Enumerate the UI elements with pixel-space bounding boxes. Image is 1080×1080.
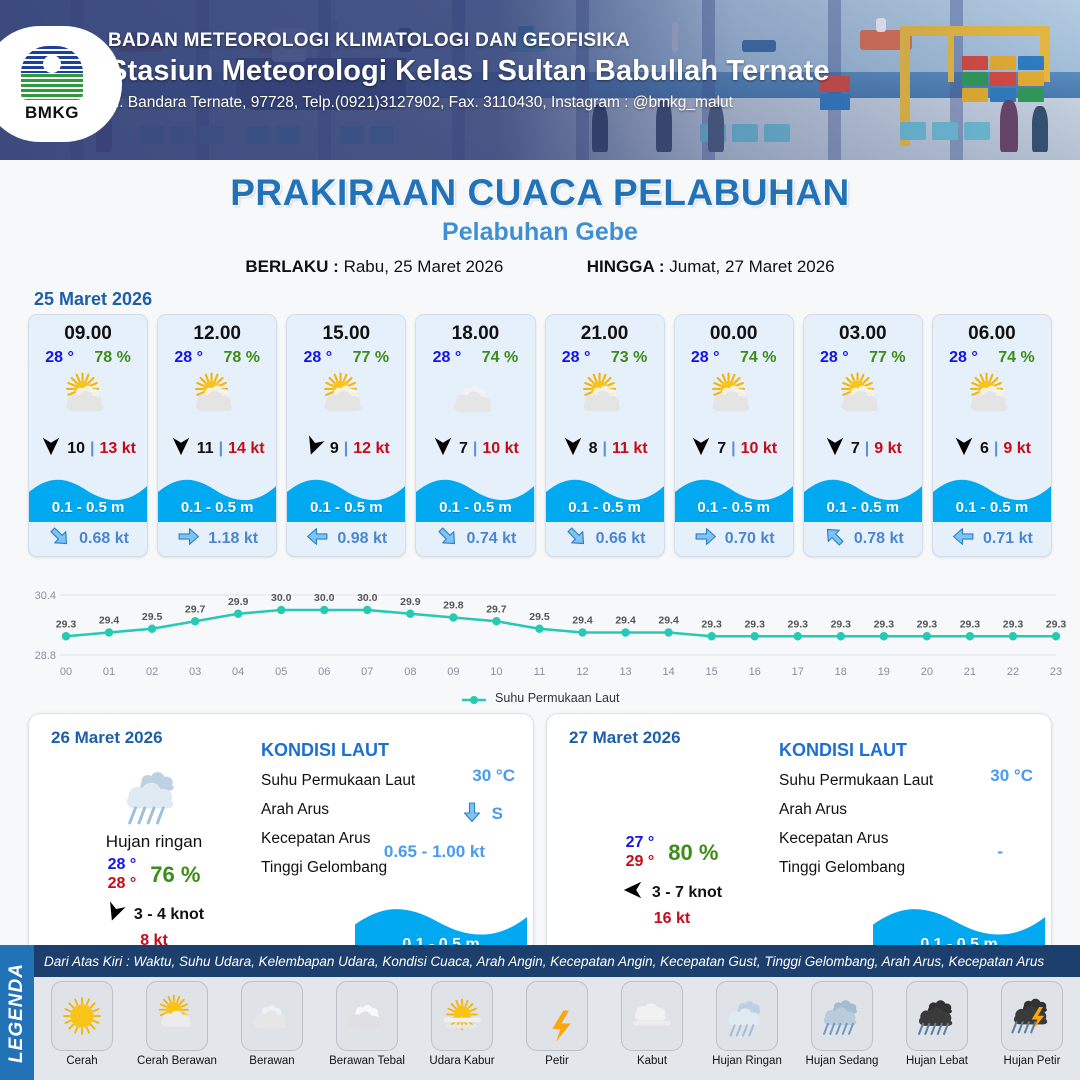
- forecast-card[interactable]: 21.0028 °73 %8|11 kt0.1 - 0.5 m0.66 kt: [545, 314, 665, 557]
- card-humidity: 73 %: [611, 349, 647, 367]
- panel-weather-summary: 27 °29 °80 %3 - 7 knot16 kt: [565, 758, 779, 928]
- card-time: 21.00: [546, 315, 664, 345]
- card-wave-height: 0.1 - 0.5 m: [158, 499, 276, 516]
- panel-temp-max: 29 °: [626, 853, 655, 871]
- current-direction-arrow-icon: [822, 524, 847, 554]
- card-wind-speed: 10: [67, 440, 85, 458]
- legend-sunny-cloudy-icon: [146, 981, 208, 1051]
- panel-temp-row: 27 °29 °80 %: [565, 834, 779, 871]
- svg-text:12: 12: [576, 666, 588, 678]
- svg-text:29.3: 29.3: [831, 618, 852, 630]
- page-title: PRAKIRAAN CUACA PELABUHAN: [0, 172, 1080, 214]
- legend-item-label: Berawan: [249, 1055, 294, 1067]
- wind-separator: |: [219, 440, 223, 458]
- card-time: 09.00: [29, 315, 147, 345]
- legend-heavy-rain-icon: [906, 981, 968, 1051]
- card-current-speed: 0.70 kt: [725, 530, 775, 548]
- card-cloudy-icon: [416, 367, 534, 429]
- panel-wind-row: 3 - 7 knot: [565, 879, 779, 906]
- card-wind-row: 6|9 kt: [933, 429, 1051, 464]
- svg-text:00: 00: [60, 666, 72, 678]
- card-wind-speed: 6: [980, 440, 989, 458]
- card-gust: 10 kt: [741, 440, 777, 458]
- sea-row-value: 0.65 - 1.00 kt: [384, 842, 485, 862]
- card-wind-row: 7|10 kt: [416, 429, 534, 464]
- legend-item-label: Petir: [545, 1055, 569, 1067]
- card-current-speed: 0.98 kt: [337, 530, 387, 548]
- current-direction-arrow-icon: [460, 800, 484, 829]
- card-temp-humidity-row: 28 °74 %: [416, 345, 534, 367]
- card-current-speed: 0.74 kt: [467, 530, 517, 548]
- current-direction-arrow-icon: [564, 524, 589, 554]
- svg-text:22: 22: [1007, 666, 1019, 678]
- valid-from-value: Rabu, 25 Maret 2026: [344, 257, 504, 276]
- svg-text:07: 07: [361, 666, 373, 678]
- card-partly-cloudy-icon: [804, 367, 922, 429]
- svg-text:29.3: 29.3: [1003, 618, 1024, 630]
- svg-text:29.3: 29.3: [701, 618, 722, 630]
- card-gust: 14 kt: [228, 440, 264, 458]
- card-wave-height: 0.1 - 0.5 m: [29, 499, 147, 516]
- legend-haze-icon: [431, 981, 493, 1051]
- card-humidity: 78 %: [224, 349, 260, 367]
- legend-fog-icon: [621, 981, 683, 1051]
- card-time: 06.00: [933, 315, 1051, 345]
- card-temp-humidity-row: 28 °74 %: [675, 345, 793, 367]
- card-temp-humidity-row: 28 °73 %: [546, 345, 664, 367]
- card-time: 18.00: [416, 315, 534, 345]
- valid-from-label: BERLAKU :: [245, 257, 339, 276]
- panel-wind-row: 3 - 4 knot: [47, 901, 261, 928]
- legend-item-label: Cerah Berawan: [137, 1055, 217, 1067]
- card-wave-block: 0.1 - 0.5 m: [933, 466, 1051, 522]
- card-temp-humidity-row: 28 °74 %: [933, 345, 1051, 367]
- page-header: BMKG BADAN METEOROLOGI KLIMATOLOGI DAN G…: [0, 0, 1080, 160]
- valid-until-value: Jumat, 27 Maret 2026: [669, 257, 834, 276]
- card-wave-block: 0.1 - 0.5 m: [546, 466, 664, 522]
- legend-item: Berawan Tebal: [321, 979, 413, 1080]
- card-current-row: 1.18 kt: [158, 522, 276, 556]
- card-gust: 11 kt: [612, 440, 648, 458]
- legend-thunderstorm-icon: [1001, 981, 1063, 1051]
- panel-humidity: 76 %: [150, 862, 200, 888]
- card-current-speed: 0.68 kt: [79, 530, 129, 548]
- svg-text:17: 17: [792, 666, 804, 678]
- card-temperature: 28 °: [820, 349, 849, 367]
- card-current-speed: 0.78 kt: [854, 530, 904, 548]
- forecast-card[interactable]: 18.0028 °74 %7|10 kt0.1 - 0.5 m0.74 kt: [415, 314, 535, 557]
- svg-text:29.3: 29.3: [1046, 618, 1066, 630]
- sea-row-value: -: [997, 842, 1003, 862]
- svg-text:28.8: 28.8: [35, 650, 56, 662]
- card-humidity: 78 %: [94, 349, 130, 367]
- card-wind-row: 9|12 kt: [287, 429, 405, 464]
- card-gust: 10 kt: [482, 440, 518, 458]
- forecast-card-row: 09.0028 °78 %10|13 kt0.1 - 0.5 m0.68 kt1…: [0, 314, 1080, 557]
- svg-text:14: 14: [662, 666, 674, 678]
- legend-item-label: Hujan Lebat: [906, 1055, 968, 1067]
- wind-direction-arrow-icon: [40, 435, 62, 462]
- card-humidity: 74 %: [998, 349, 1034, 367]
- card-temp-humidity-row: 28 °77 %: [287, 345, 405, 367]
- svg-text:29.3: 29.3: [56, 618, 77, 630]
- forecast-card[interactable]: 09.0028 °78 %10|13 kt0.1 - 0.5 m0.68 kt: [28, 314, 148, 557]
- legend-item-list: CerahCerah BerawanBerawanBerawan TebalUd…: [36, 979, 1078, 1080]
- wind-separator: |: [473, 440, 477, 458]
- wind-separator: |: [731, 440, 735, 458]
- card-temp-humidity-row: 28 °77 %: [804, 345, 922, 367]
- wind-direction-arrow-icon: [562, 435, 584, 462]
- wind-separator: |: [90, 440, 94, 458]
- svg-text:30.0: 30.0: [271, 592, 292, 604]
- svg-text:29.4: 29.4: [572, 615, 593, 627]
- wind-direction-arrow-icon: [622, 879, 644, 906]
- wind-direction-arrow-icon: [104, 901, 126, 928]
- svg-text:29.5: 29.5: [529, 611, 550, 623]
- card-wind-speed: 11: [197, 440, 214, 458]
- card-temperature: 28 °: [45, 349, 74, 367]
- card-wind-speed: 7: [851, 440, 860, 458]
- svg-text:16: 16: [749, 666, 761, 678]
- svg-text:19: 19: [878, 666, 890, 678]
- card-gust: 12 kt: [353, 440, 389, 458]
- chart-svg: 30.428.829.30029.40129.50229.70329.90430…: [14, 571, 1066, 689]
- svg-text:29.8: 29.8: [443, 600, 464, 612]
- svg-text:29.3: 29.3: [960, 618, 981, 630]
- legend-item-label: Udara Kabur: [429, 1055, 494, 1067]
- valid-until-label: HINGGA :: [587, 257, 665, 276]
- svg-text:05: 05: [275, 666, 287, 678]
- card-wind-speed: 9: [330, 440, 339, 458]
- panel-date: 27 Maret 2026: [569, 728, 681, 748]
- panel-gust: 16 kt: [565, 910, 779, 928]
- card-partly-cloudy-icon: [546, 367, 664, 429]
- card-wind-row: 10|13 kt: [29, 429, 147, 464]
- svg-text:04: 04: [232, 666, 244, 678]
- card-humidity: 74 %: [740, 349, 776, 367]
- card-gust: 9 kt: [874, 440, 902, 458]
- card-temperature: 28 °: [304, 349, 333, 367]
- svg-text:01: 01: [103, 666, 115, 678]
- bmkg-logo-text: BMKG: [25, 103, 79, 123]
- card-current-row: 0.66 kt: [546, 522, 664, 556]
- svg-text:29.7: 29.7: [185, 603, 206, 615]
- card-wave-height: 0.1 - 0.5 m: [287, 499, 405, 516]
- svg-text:30.4: 30.4: [35, 590, 56, 602]
- legend-item-label: Berawan Tebal: [329, 1055, 405, 1067]
- bmkg-logo-mark: [21, 46, 83, 100]
- current-direction-arrow-icon: [47, 524, 72, 554]
- card-wave-height: 0.1 - 0.5 m: [933, 499, 1051, 516]
- sea-temperature-chart: 30.428.829.30029.40129.50229.70329.90430…: [14, 571, 1066, 689]
- forecast-day-label: 25 Maret 2026: [34, 289, 1080, 310]
- card-gust: 9 kt: [1003, 440, 1031, 458]
- card-wave-block: 0.1 - 0.5 m: [158, 466, 276, 522]
- station-address: Jl. Bandara Ternate, 97728, Telp.(0921)3…: [108, 94, 830, 112]
- card-partly-cloudy-icon: [287, 367, 405, 429]
- chart-legend-marker: [461, 694, 487, 704]
- svg-text:29.9: 29.9: [400, 596, 421, 608]
- card-current-speed: 0.71 kt: [983, 530, 1033, 548]
- card-partly-cloudy-icon: [933, 367, 1051, 429]
- card-wind-row: 8|11 kt: [546, 429, 664, 464]
- card-current-row: 0.78 kt: [804, 522, 922, 556]
- chart-legend-label: Suhu Permukaan Laut: [495, 691, 619, 705]
- card-wave-block: 0.1 - 0.5 m: [416, 466, 534, 522]
- card-current-row: 0.74 kt: [416, 522, 534, 556]
- svg-text:11: 11: [534, 666, 545, 678]
- panel-light-rain-icon: [47, 758, 261, 830]
- forecast-card[interactable]: 03.0028 °77 %7|9 kt0.1 - 0.5 m0.78 kt: [803, 314, 923, 557]
- legend-item: Kabut: [606, 979, 698, 1080]
- svg-text:29.3: 29.3: [917, 618, 938, 630]
- legend-item-label: Kabut: [637, 1055, 667, 1067]
- chart-legend: Suhu Permukaan Laut: [0, 691, 1080, 705]
- legend-item: Berawan: [226, 979, 318, 1080]
- panel-temp-min: 28 °: [108, 856, 137, 874]
- card-humidity: 77 %: [869, 349, 905, 367]
- svg-text:23: 23: [1050, 666, 1062, 678]
- legend-strip: LEGENDA Dari Atas Kiri : Waktu, Suhu Uda…: [0, 945, 1080, 1080]
- legend-item: Udara Kabur: [416, 979, 508, 1080]
- station-name: Stasiun Meteorologi Kelas I Sultan Babul…: [108, 55, 830, 88]
- panel-temp-row: 28 °28 °76 %: [47, 856, 261, 893]
- panel-temp-max: 28 °: [108, 875, 137, 893]
- card-temp-humidity-row: 28 °78 %: [29, 345, 147, 367]
- legend-light-rain-icon: [716, 981, 778, 1051]
- svg-text:10: 10: [490, 666, 502, 678]
- title-block: PRAKIRAAN CUACA PELABUHAN Pelabuhan Gebe…: [0, 160, 1080, 277]
- header-text-block: BADAN METEOROLOGI KLIMATOLOGI DAN GEOFIS…: [108, 30, 830, 112]
- outlook-panel: 26 Maret 2026Hujan ringan28 °28 °76 %3 -…: [28, 713, 534, 961]
- legend-item-label: Hujan Ringan: [712, 1055, 782, 1067]
- svg-text:08: 08: [404, 666, 416, 678]
- current-direction-arrow-icon: [176, 524, 201, 554]
- card-wind-speed: 7: [717, 440, 726, 458]
- wind-direction-arrow-icon: [953, 435, 975, 462]
- agency-name: BADAN METEOROLOGI KLIMATOLOGI DAN GEOFIS…: [108, 30, 830, 52]
- legend-note: Dari Atas Kiri : Waktu, Suhu Udara, Kele…: [34, 945, 1080, 977]
- legend-item: Hujan Sedang: [796, 979, 888, 1080]
- card-temperature: 28 °: [433, 349, 462, 367]
- forecast-card[interactable]: 15.0028 °77 %9|12 kt0.1 - 0.5 m0.98 kt: [286, 314, 406, 557]
- current-direction-arrow-icon: [951, 524, 976, 554]
- wind-separator: |: [994, 440, 998, 458]
- svg-text:29.4: 29.4: [615, 615, 636, 627]
- svg-text:15: 15: [706, 666, 718, 678]
- panel-temp-min: 27 °: [626, 834, 655, 852]
- sea-conditions-title: KONDISI LAUT: [779, 740, 1037, 761]
- sea-row-value: 30 °C: [990, 766, 1033, 786]
- svg-text:06: 06: [318, 666, 330, 678]
- wind-direction-arrow-icon: [170, 435, 192, 462]
- wind-separator: |: [865, 440, 869, 458]
- sea-conditions-title: KONDISI LAUT: [261, 740, 519, 761]
- legend-item: Cerah: [36, 979, 128, 1080]
- legend-item-label: Hujan Sedang: [806, 1055, 879, 1067]
- card-time: 00.00: [675, 315, 793, 345]
- legend-item: Petir: [511, 979, 603, 1080]
- panel-condition: Hujan ringan: [47, 832, 261, 852]
- current-direction-arrow-icon: [435, 524, 460, 554]
- current-direction-arrow-icon: [305, 524, 330, 554]
- svg-text:29.3: 29.3: [788, 618, 809, 630]
- card-current-row: 0.98 kt: [287, 522, 405, 556]
- wind-separator: |: [602, 440, 606, 458]
- card-humidity: 74 %: [482, 349, 518, 367]
- wind-separator: |: [344, 440, 348, 458]
- card-current-speed: 1.18 kt: [208, 530, 258, 548]
- wind-direction-arrow-icon: [824, 435, 846, 462]
- svg-text:30.0: 30.0: [357, 592, 378, 604]
- card-temperature: 28 °: [562, 349, 591, 367]
- legend-item-label: Hujan Petir: [1004, 1055, 1061, 1067]
- legend-lightning-icon: [526, 981, 588, 1051]
- card-temperature: 28 °: [691, 349, 720, 367]
- legend-side-label: LEGENDA: [0, 945, 34, 1080]
- svg-text:18: 18: [835, 666, 847, 678]
- page-subtitle: Pelabuhan Gebe: [0, 218, 1080, 247]
- svg-text:13: 13: [619, 666, 631, 678]
- wind-direction-arrow-icon: [303, 435, 325, 462]
- legend-item: Cerah Berawan: [131, 979, 223, 1080]
- panel-none: [565, 758, 779, 830]
- wind-direction-arrow-icon: [690, 435, 712, 462]
- legend-item: Hujan Ringan: [701, 979, 793, 1080]
- legend-moderate-rain-icon: [811, 981, 873, 1051]
- legend-sunny-icon: [51, 981, 113, 1051]
- panel-wind-speed: 3 - 7 knot: [652, 884, 722, 902]
- svg-text:21: 21: [964, 666, 976, 678]
- card-wind-row: 7|9 kt: [804, 429, 922, 464]
- card-wave-height: 0.1 - 0.5 m: [416, 499, 534, 516]
- card-wind-speed: 8: [589, 440, 598, 458]
- svg-text:03: 03: [189, 666, 201, 678]
- card-wave-block: 0.1 - 0.5 m: [804, 466, 922, 522]
- card-wave-height: 0.1 - 0.5 m: [804, 499, 922, 516]
- legend-overcast-icon: [336, 981, 398, 1051]
- forecast-card[interactable]: 06.0028 °74 %6|9 kt0.1 - 0.5 m0.71 kt: [932, 314, 1052, 557]
- card-current-row: 0.71 kt: [933, 522, 1051, 556]
- svg-text:29.7: 29.7: [486, 603, 507, 615]
- validity-row: BERLAKU : Rabu, 25 Maret 2026 HINGGA : J…: [0, 257, 1080, 277]
- card-wave-height: 0.1 - 0.5 m: [546, 499, 664, 516]
- bmkg-logo: BMKG: [0, 26, 122, 142]
- card-partly-cloudy-icon: [29, 367, 147, 429]
- legend-cloudy-icon: [241, 981, 303, 1051]
- card-temperature: 28 °: [174, 349, 203, 367]
- card-wave-block: 0.1 - 0.5 m: [287, 466, 405, 522]
- legend-item-label: Cerah: [66, 1055, 97, 1067]
- panel-date: 26 Maret 2026: [51, 728, 163, 748]
- svg-text:09: 09: [447, 666, 459, 678]
- card-wave-block: 0.1 - 0.5 m: [29, 466, 147, 522]
- legend-item: Hujan Petir: [986, 979, 1078, 1080]
- sea-row-value: 30 °C: [472, 766, 515, 786]
- card-gust: 13 kt: [99, 440, 135, 458]
- card-wind-speed: 7: [459, 440, 468, 458]
- panel-weather-summary: Hujan ringan28 °28 °76 %3 - 4 knot8 kt: [47, 758, 261, 950]
- svg-text:29.9: 29.9: [228, 596, 249, 608]
- card-partly-cloudy-icon: [158, 367, 276, 429]
- svg-text:02: 02: [146, 666, 158, 678]
- sea-row-label: Arah Arus: [779, 801, 1037, 819]
- outlook-panel: 27 Maret 202627 °29 °80 %3 - 7 knot16 kt…: [546, 713, 1052, 961]
- card-time: 12.00: [158, 315, 276, 345]
- card-current-row: 0.70 kt: [675, 522, 793, 556]
- wind-direction-arrow-icon: [432, 435, 454, 462]
- current-direction-arrow-icon: [693, 524, 718, 554]
- card-wave-block: 0.1 - 0.5 m: [675, 466, 793, 522]
- legend-item: Hujan Lebat: [891, 979, 983, 1080]
- svg-text:29.5: 29.5: [142, 611, 163, 623]
- card-humidity: 77 %: [353, 349, 389, 367]
- card-time: 15.00: [287, 315, 405, 345]
- card-wind-row: 11|14 kt: [158, 429, 276, 464]
- card-temp-humidity-row: 28 °78 %: [158, 345, 276, 367]
- outlook-panels: 26 Maret 2026Hujan ringan28 °28 °76 %3 -…: [0, 705, 1080, 961]
- svg-text:20: 20: [921, 666, 933, 678]
- card-current-speed: 0.66 kt: [596, 530, 646, 548]
- panel-wind-speed: 3 - 4 knot: [134, 906, 204, 924]
- svg-text:29.3: 29.3: [744, 618, 765, 630]
- svg-text:29.4: 29.4: [99, 615, 120, 627]
- panel-humidity: 80 %: [668, 840, 718, 866]
- card-wind-row: 7|10 kt: [675, 429, 793, 464]
- forecast-card[interactable]: 12.0028 °78 %11|14 kt0.1 - 0.5 m1.18 kt: [157, 314, 277, 557]
- card-temperature: 28 °: [949, 349, 978, 367]
- card-partly-cloudy-icon: [675, 367, 793, 429]
- card-current-row: 0.68 kt: [29, 522, 147, 556]
- svg-text:30.0: 30.0: [314, 592, 335, 604]
- svg-text:29.3: 29.3: [874, 618, 895, 630]
- forecast-card[interactable]: 00.0028 °74 %7|10 kt0.1 - 0.5 m0.70 kt: [674, 314, 794, 557]
- card-wave-height: 0.1 - 0.5 m: [675, 499, 793, 516]
- card-time: 03.00: [804, 315, 922, 345]
- sea-row-value: S: [460, 800, 503, 829]
- svg-text:29.4: 29.4: [658, 615, 679, 627]
